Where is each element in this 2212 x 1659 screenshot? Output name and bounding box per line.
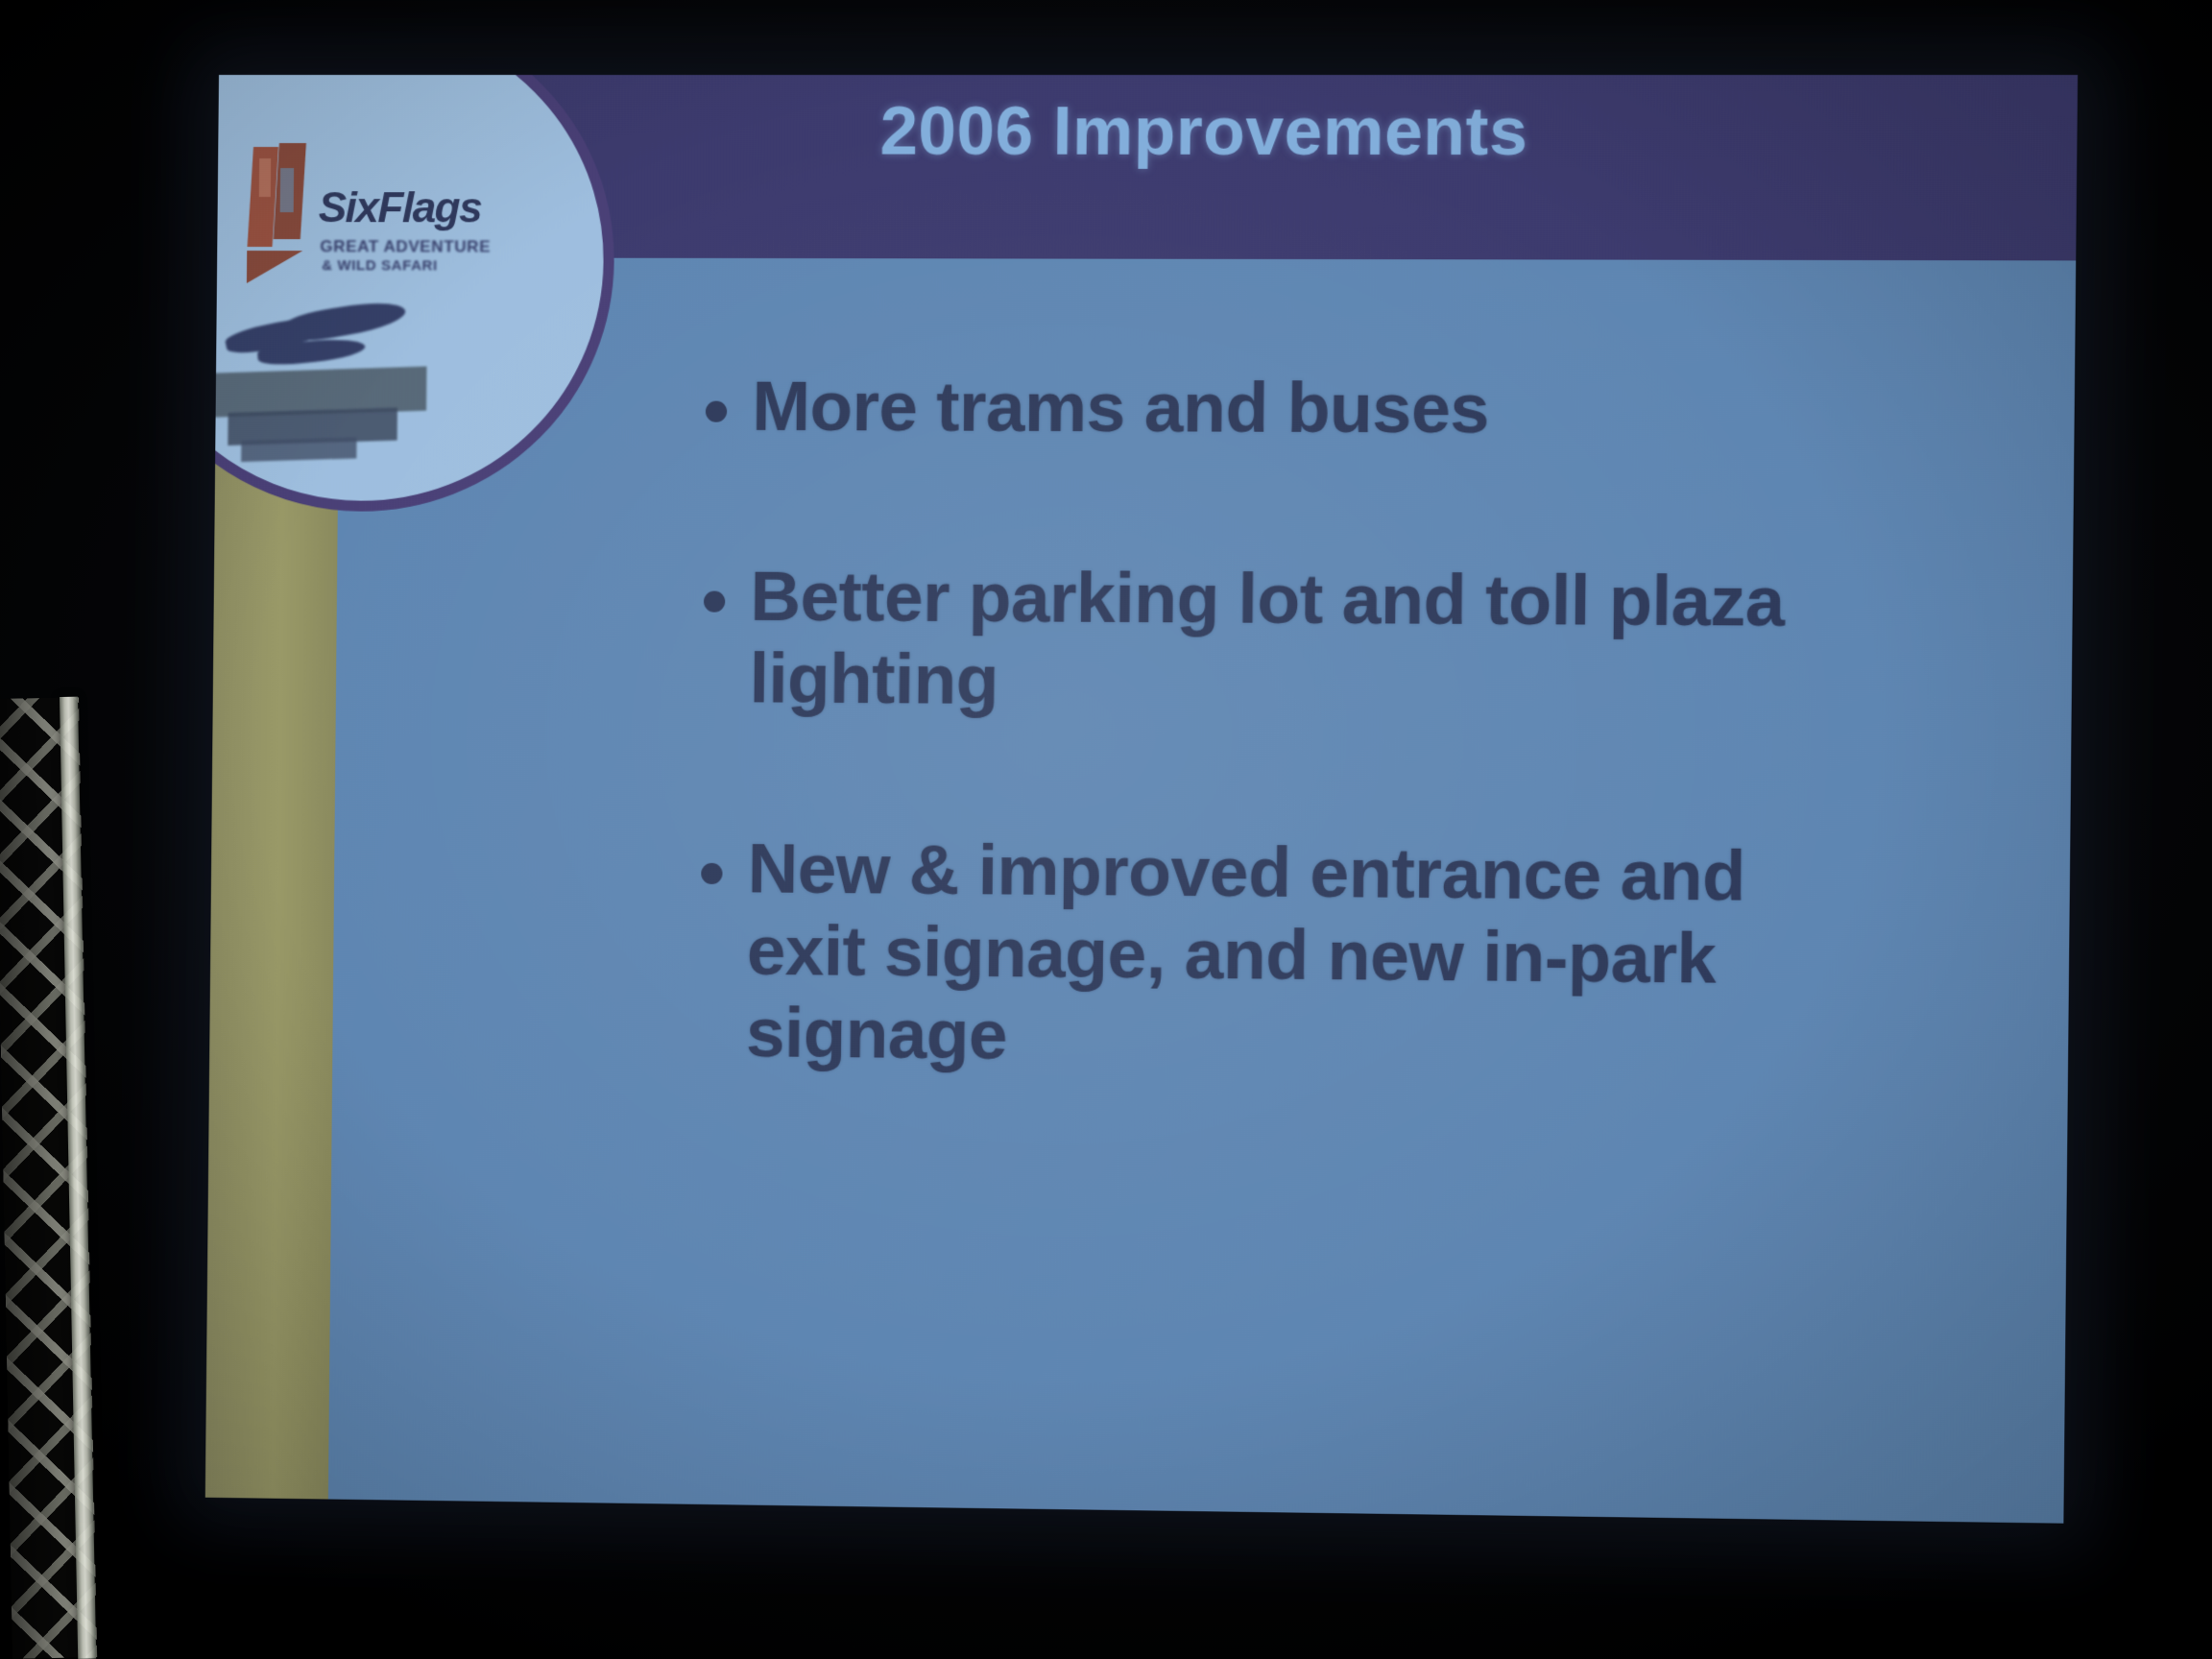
bullet-marker-icon [704, 590, 725, 612]
brand-logo-disc-inner: SixFlags GREAT ADVENTURE & WILD SAFARI [205, 75, 606, 502]
six-flags-subtitle-line1: GREAT ADVENTURE [320, 237, 491, 256]
bullet-marker-icon [701, 863, 722, 884]
projection-screen: 2006 Improvements SixFlags GREAT ADVENTU… [205, 75, 2078, 1524]
flag-pennant-icon [247, 251, 302, 283]
flag-bar-4 [280, 168, 294, 212]
six-flags-flag-icon [247, 143, 307, 254]
hurricane-harbor-logo [206, 302, 448, 467]
bullet-marker-icon [706, 401, 727, 422]
bullet-text-3: New & improved entrance and exit signage… [746, 829, 1816, 1085]
hurricane-harbor-text-band-3 [241, 437, 356, 462]
flag-bar-3 [259, 158, 271, 197]
bullet-item-2: Better parking lot and toll plaza lighti… [703, 556, 2009, 728]
six-flags-wordmark: SixFlags [319, 187, 482, 229]
hurricane-harbor-wave-icon [225, 302, 408, 365]
six-flags-logo: SixFlags GREAT ADVENTURE & WILD SAFARI [247, 143, 537, 288]
bullet-list: More trams and buses Better parking lot … [699, 366, 2011, 1086]
bullet-text-1: More trams and buses [752, 367, 2011, 453]
wave-stroke-2 [281, 297, 407, 347]
presentation-slide: 2006 Improvements SixFlags GREAT ADVENTU… [205, 75, 2078, 1524]
brand-logo-disc: SixFlags GREAT ADVENTURE & WILD SAFARI [205, 75, 616, 513]
bullet-item-3: New & improved entrance and exit signage… [699, 829, 2007, 1087]
bullet-item-1: More trams and buses [706, 366, 2011, 452]
bullet-text-2: Better parking lot and toll plaza lighti… [749, 557, 1887, 728]
lattice-panel [0, 697, 120, 1659]
six-flags-subtitle-line2: & WILD SAFARI [322, 257, 438, 274]
